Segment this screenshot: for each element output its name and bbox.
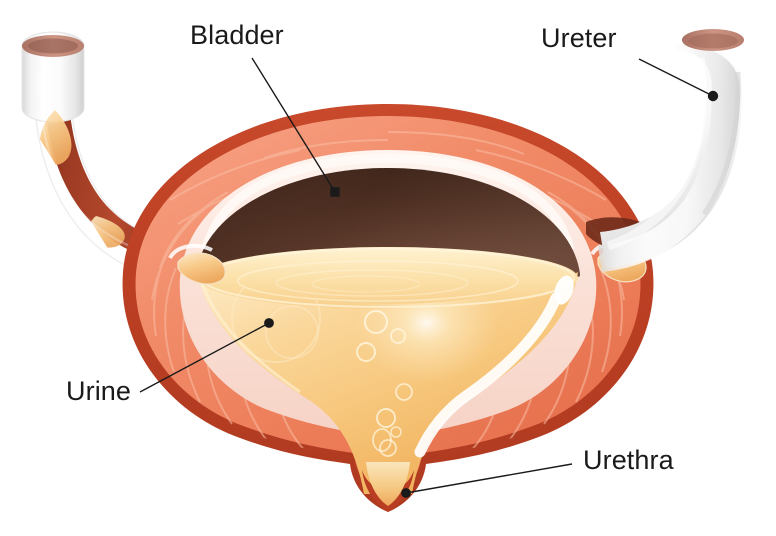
leader-dot-urine [265, 319, 273, 327]
right-ureter [598, 29, 744, 272]
label-urethra: Urethra [583, 447, 674, 474]
label-urine: Urine [66, 378, 131, 405]
illustration-canvas: Bladder Ureter Urine Urethra [0, 0, 776, 536]
label-ureter: Ureter [541, 25, 617, 52]
label-bladder: Bladder [190, 22, 284, 49]
leader-dot-ureter [709, 92, 718, 101]
urine-surface [198, 247, 578, 309]
leader-dot-urethra [402, 489, 410, 497]
leader-dot-bladder [331, 188, 339, 196]
right-ureter-cut-lumen [688, 34, 738, 49]
leader-urethra [406, 464, 572, 493]
left-ureter-cut-collar [22, 32, 84, 122]
